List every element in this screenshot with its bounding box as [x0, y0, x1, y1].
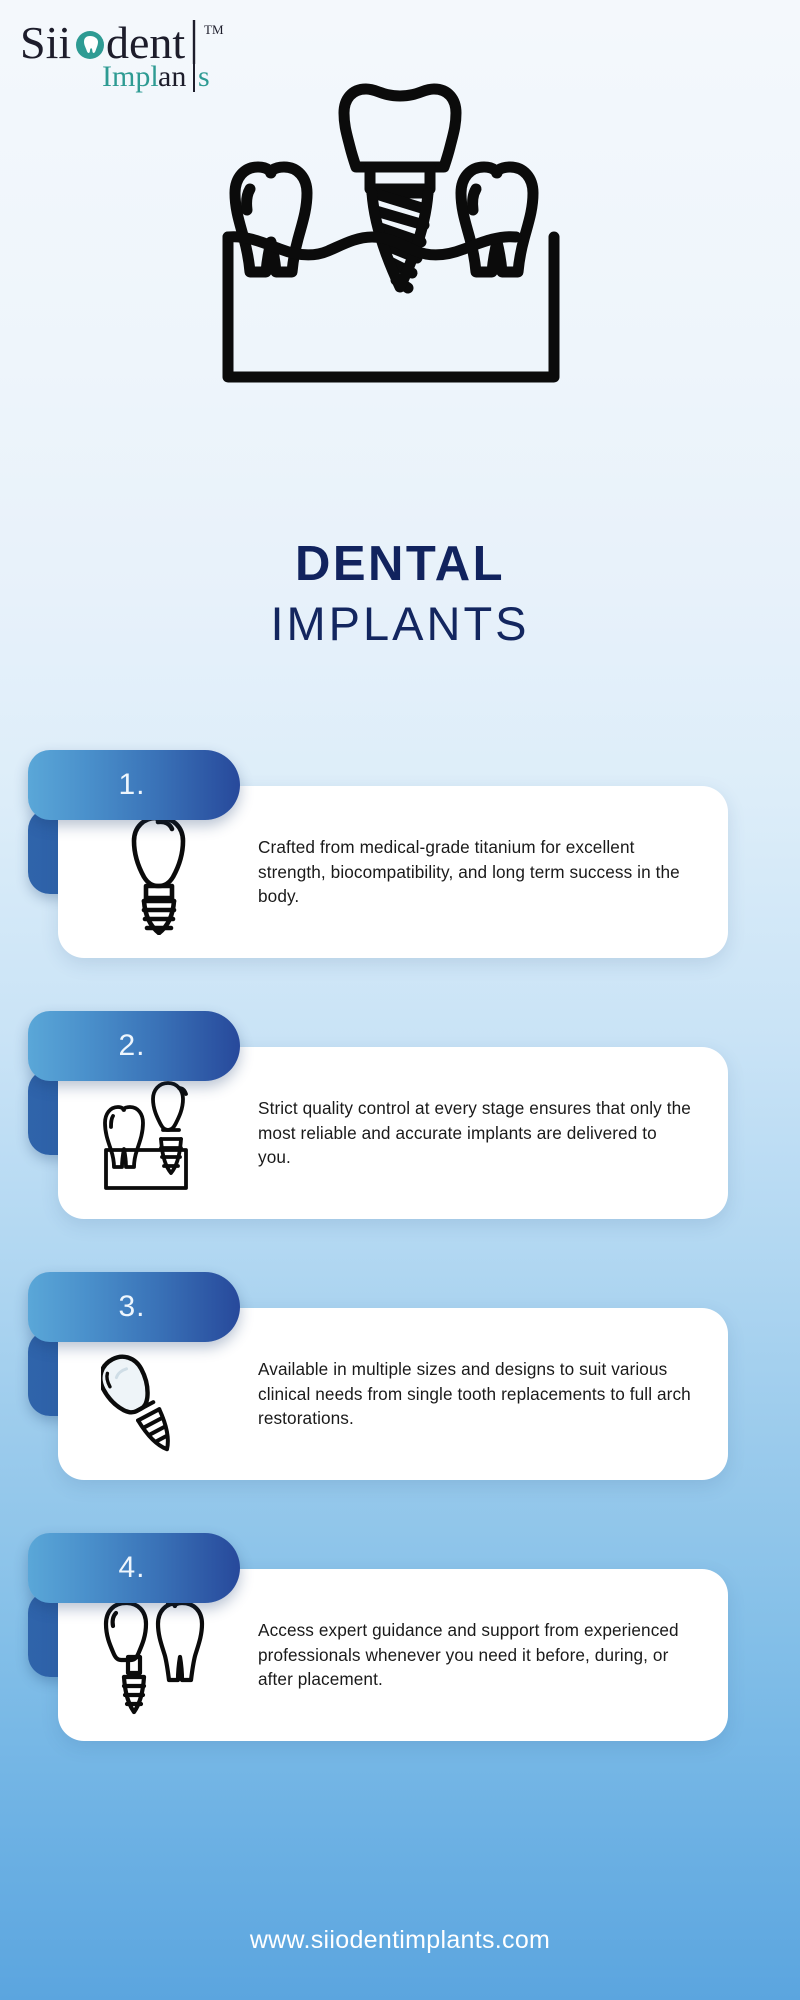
svg-text:TM: TM	[204, 22, 224, 37]
card-text-4: Access expert guidance and support from …	[258, 1618, 728, 1693]
footer: www.siiodentimplants.com	[0, 1880, 800, 2000]
dental-implant-between-teeth-icon	[220, 52, 580, 397]
website-url[interactable]: www.siiodentimplants.com	[250, 1926, 550, 1955]
card-number-4: 4.	[118, 1551, 145, 1585]
feature-card-list: Crafted from medical-grade titanium for …	[0, 748, 800, 1792]
card-text-2: Strict quality control at every stage en…	[258, 1096, 728, 1171]
card-number-badge-1: 1.	[28, 750, 240, 820]
feature-card-3[interactable]: Available in multiple sizes and designs …	[0, 1270, 800, 1495]
title-line-1: DENTAL	[0, 540, 800, 589]
title-line-2: IMPLANTS	[0, 595, 800, 654]
card-number-badge-3: 3.	[28, 1272, 240, 1342]
card-number-badge-2: 2.	[28, 1011, 240, 1081]
feature-card-1[interactable]: Crafted from medical-grade titanium for …	[0, 748, 800, 973]
card-text-3: Available in multiple sizes and designs …	[258, 1357, 728, 1432]
card-number-badge-4: 4.	[28, 1533, 240, 1603]
card-number-1: 1.	[118, 768, 145, 802]
card-number-3: 3.	[118, 1290, 145, 1324]
card-number-2: 2.	[118, 1029, 145, 1063]
page-title: DENTAL IMPLANTS	[0, 540, 800, 654]
hero-illustration	[0, 52, 800, 402]
card-text-1: Crafted from medical-grade titanium for …	[258, 835, 728, 910]
feature-card-2[interactable]: Strict quality control at every stage en…	[0, 1009, 800, 1234]
feature-card-4[interactable]: Access expert guidance and support from …	[0, 1531, 800, 1756]
